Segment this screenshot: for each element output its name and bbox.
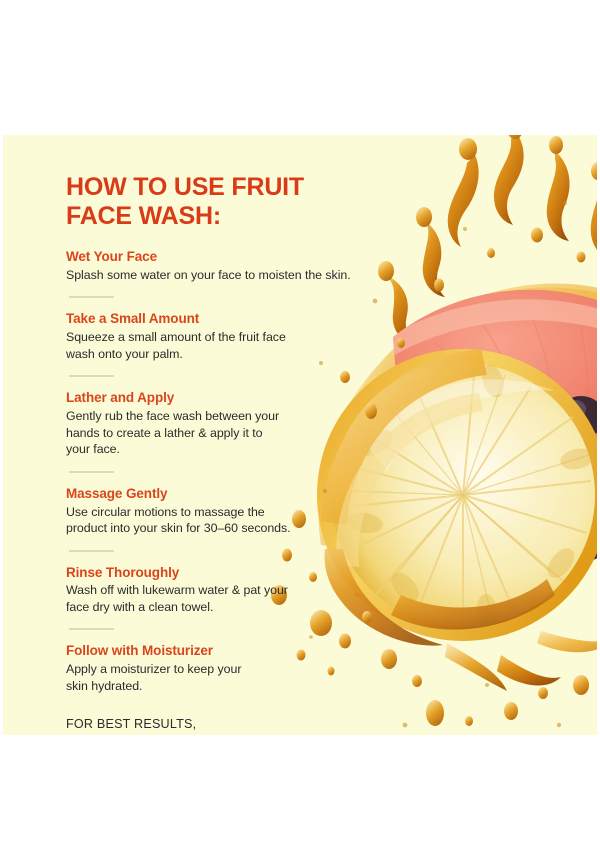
step-title: Lather and Apply	[66, 390, 366, 407]
step-body: Wash off with lukewarm water & pat your …	[66, 582, 366, 615]
step-divider	[69, 296, 114, 298]
step-take-a-small-amount: Take a Small Amount Squeeze a small amou…	[66, 311, 366, 362]
step-divider	[69, 550, 114, 552]
step-title: Rinse Thoroughly	[66, 565, 366, 582]
instructions-card: HOW TO USE FRUIT FACE WASH: Wet Your Fac…	[3, 135, 597, 735]
step-divider	[69, 375, 114, 377]
footer-emphasis-1: USE TWICE DAILY	[66, 734, 366, 735]
instructions-content: HOW TO USE FRUIT FACE WASH: Wet Your Fac…	[66, 173, 366, 735]
step-lather-and-apply: Lather and Apply Gently rub the face was…	[66, 390, 366, 457]
footer-note: FOR BEST RESULTS, USE TWICE DAILY (MORNI…	[66, 716, 366, 735]
step-rinse-thoroughly: Rinse Thoroughly Wash off with lukewarm …	[66, 565, 366, 616]
step-massage-gently: Massage Gently Use circular motions to m…	[66, 486, 366, 537]
footer-lead: FOR BEST RESULTS,	[66, 716, 366, 733]
step-body: Gently rub the face wash between your ha…	[66, 408, 366, 458]
step-title: Wet Your Face	[66, 249, 366, 266]
page-title: HOW TO USE FRUIT FACE WASH:	[66, 173, 366, 230]
step-title: Take a Small Amount	[66, 311, 366, 328]
step-divider	[69, 471, 114, 473]
step-body: Squeeze a small amount of the fruit face…	[66, 329, 366, 362]
step-body: Apply a moisturizer to keep your skin hy…	[66, 661, 366, 694]
step-divider	[69, 628, 114, 630]
step-title: Massage Gently	[66, 486, 366, 503]
infographic-page: HOW TO USE FRUIT FACE WASH: Wet Your Fac…	[0, 0, 600, 866]
step-title: Follow with Moisturizer	[66, 643, 366, 660]
step-wet-your-face: Wet Your Face Splash some water on your …	[66, 249, 366, 283]
step-body: Use circular motions to massage the prod…	[66, 504, 366, 537]
step-follow-with-moisturizer: Follow with Moisturizer Apply a moisturi…	[66, 643, 366, 694]
step-body: Splash some water on your face to moiste…	[66, 267, 366, 284]
